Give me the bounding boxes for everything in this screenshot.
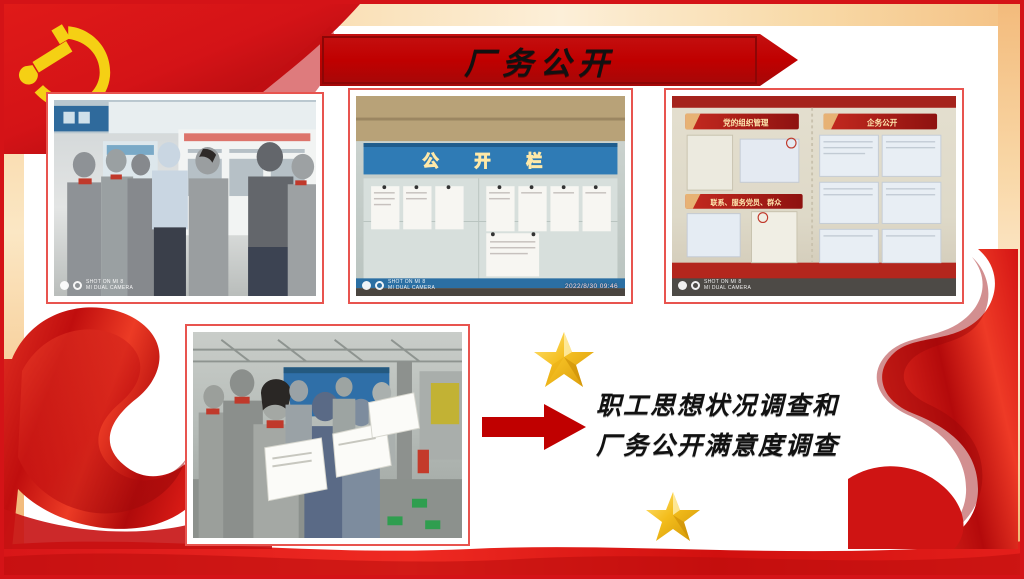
photo-frame-public-notice-board[interactable]: 公 开 栏 bbox=[348, 88, 633, 304]
camera-watermark: SHOT ON MI 8 MI DUAL CAMERA bbox=[362, 279, 435, 291]
gold-star-icon bbox=[645, 490, 701, 544]
caption-line-1: 职工思想状况调查和 bbox=[596, 386, 896, 426]
photo-survey-filling bbox=[193, 332, 462, 538]
page-title: 厂务公开 bbox=[320, 34, 760, 86]
photo-frame-survey-filling[interactable] bbox=[185, 324, 470, 546]
svg-text:企务公开: 企务公开 bbox=[866, 117, 897, 127]
camera-watermark: SHOT ON MI 8 MI DUAL CAMERA bbox=[678, 279, 751, 291]
watermark-line2: MI DUAL CAMERA bbox=[86, 285, 133, 291]
lens-filled-icon bbox=[60, 281, 69, 290]
caption-line-2: 厂务公开满意度调查 bbox=[596, 426, 896, 466]
watermark-line2: MI DUAL CAMERA bbox=[704, 285, 751, 291]
caption-text: 职工思想状况调查和 厂务公开满意度调查 bbox=[596, 386, 896, 466]
watermark-line2: MI DUAL CAMERA bbox=[388, 285, 435, 291]
photo-party-bulletin-board: 党的组织管理 联系、服务党员、群众 企务公开 bbox=[672, 96, 956, 296]
photo-timestamp: 2022/8/30 09:46 bbox=[565, 283, 618, 290]
svg-text:公 开 栏: 公 开 栏 bbox=[423, 151, 558, 170]
title-banner: 厂务公开 bbox=[320, 34, 798, 86]
lens-filled-icon bbox=[362, 281, 371, 290]
photo-public-notice-board: 公 开 栏 bbox=[356, 96, 625, 296]
photo-frame-party-bulletin-board[interactable]: 党的组织管理 联系、服务党员、群众 企务公开 bbox=[664, 88, 964, 304]
photo-workers-viewing-board: SHOT ON MI 8 MI DUAL CAMERA bbox=[54, 100, 316, 296]
gold-star-icon bbox=[533, 330, 595, 390]
lens-ring-icon bbox=[691, 281, 700, 290]
lens-filled-icon bbox=[678, 281, 687, 290]
slide-canvas: 厂务公开 bbox=[0, 0, 1024, 579]
svg-text:党的组织管理: 党的组织管理 bbox=[723, 117, 769, 127]
camera-watermark: SHOT ON MI 8 MI DUAL CAMERA bbox=[60, 279, 133, 291]
svg-text:联系、服务党员、群众: 联系、服务党员、群众 bbox=[710, 198, 782, 207]
right-arrow-icon bbox=[482, 404, 586, 450]
lens-ring-icon bbox=[73, 281, 82, 290]
lens-ring-icon bbox=[375, 281, 384, 290]
photo-frame-workers-viewing-board[interactable]: SHOT ON MI 8 MI DUAL CAMERA bbox=[46, 92, 324, 304]
